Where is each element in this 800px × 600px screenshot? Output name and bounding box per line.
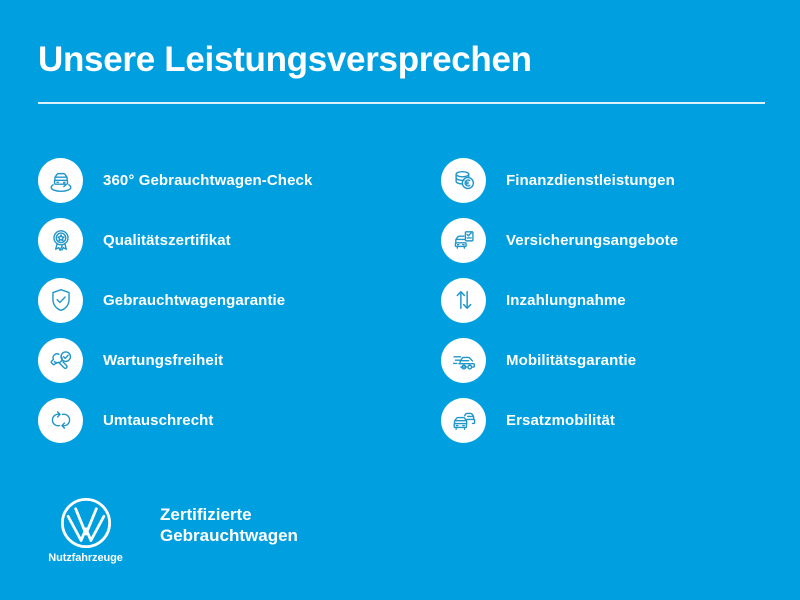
footer-tagline: Zertifizierte Gebrauchtwagen: [160, 504, 298, 546]
benefits-column-left: 360° Gebrauchtwagen-Check Qualitätszerti…: [38, 150, 438, 450]
benefit-item[interactable]: Umtauschrecht: [38, 390, 438, 450]
benefit-item[interactable]: Qualitätszertifikat: [38, 210, 438, 270]
benefits-column-right: Finanzdienstleistungen Versicheru: [441, 150, 791, 450]
benefit-label: 360° Gebrauchtwagen-Check: [103, 172, 312, 189]
vw-logo-subtitle: Nutzfahrzeuge: [38, 552, 133, 564]
exchange-arrows-icon: [38, 398, 83, 443]
up-down-arrows-icon: [441, 278, 486, 323]
benefit-label: Umtauschrecht: [103, 412, 214, 429]
benefit-item[interactable]: Versicherungsangebote: [441, 210, 791, 270]
benefit-label: Mobilitätsgarantie: [506, 352, 636, 369]
car-document-icon: [441, 218, 486, 263]
header-divider: [38, 102, 765, 104]
car-motion-icon: [441, 338, 486, 383]
vw-roundel-icon: [58, 495, 114, 551]
footer-tagline-line2: Gebrauchtwagen: [160, 525, 298, 546]
slide-canvas: Unsere Leistungsversprechen 360° Gebrauc…: [0, 0, 800, 600]
benefit-label: Versicherungsangebote: [506, 232, 678, 249]
page-title: Unsere Leistungsversprechen: [38, 40, 532, 80]
vw-logo: Nutzfahrzeuge: [38, 495, 133, 564]
benefit-item[interactable]: Inzahlungnahme: [441, 270, 791, 330]
benefit-label: Finanzdienstleistungen: [506, 172, 675, 189]
wrench-check-icon: [38, 338, 83, 383]
benefit-label: Ersatzmobilität: [506, 412, 615, 429]
footer-tagline-line1: Zertifizierte: [160, 504, 298, 525]
quality-badge-icon: [38, 218, 83, 263]
benefit-item[interactable]: 360° Gebrauchtwagen-Check: [38, 150, 438, 210]
coins-euro-icon: [441, 158, 486, 203]
car-360-check-icon: [38, 158, 83, 203]
benefit-item[interactable]: Wartungsfreiheit: [38, 330, 438, 390]
shield-check-icon: [38, 278, 83, 323]
benefit-item[interactable]: Mobilitätsgarantie: [441, 330, 791, 390]
benefit-item[interactable]: Finanzdienstleistungen: [441, 150, 791, 210]
benefit-item[interactable]: Gebrauchtwagengarantie: [38, 270, 438, 330]
benefit-label: Inzahlungnahme: [506, 292, 626, 309]
benefit-label: Gebrauchtwagengarantie: [103, 292, 285, 309]
footer-branding: Nutzfahrzeuge Zertifizierte Gebrauchtwag…: [30, 495, 430, 575]
benefit-item[interactable]: Ersatzmobilität: [441, 390, 791, 450]
benefit-label: Qualitätszertifikat: [103, 232, 231, 249]
benefit-label: Wartungsfreiheit: [103, 352, 223, 369]
two-cars-icon: [441, 398, 486, 443]
